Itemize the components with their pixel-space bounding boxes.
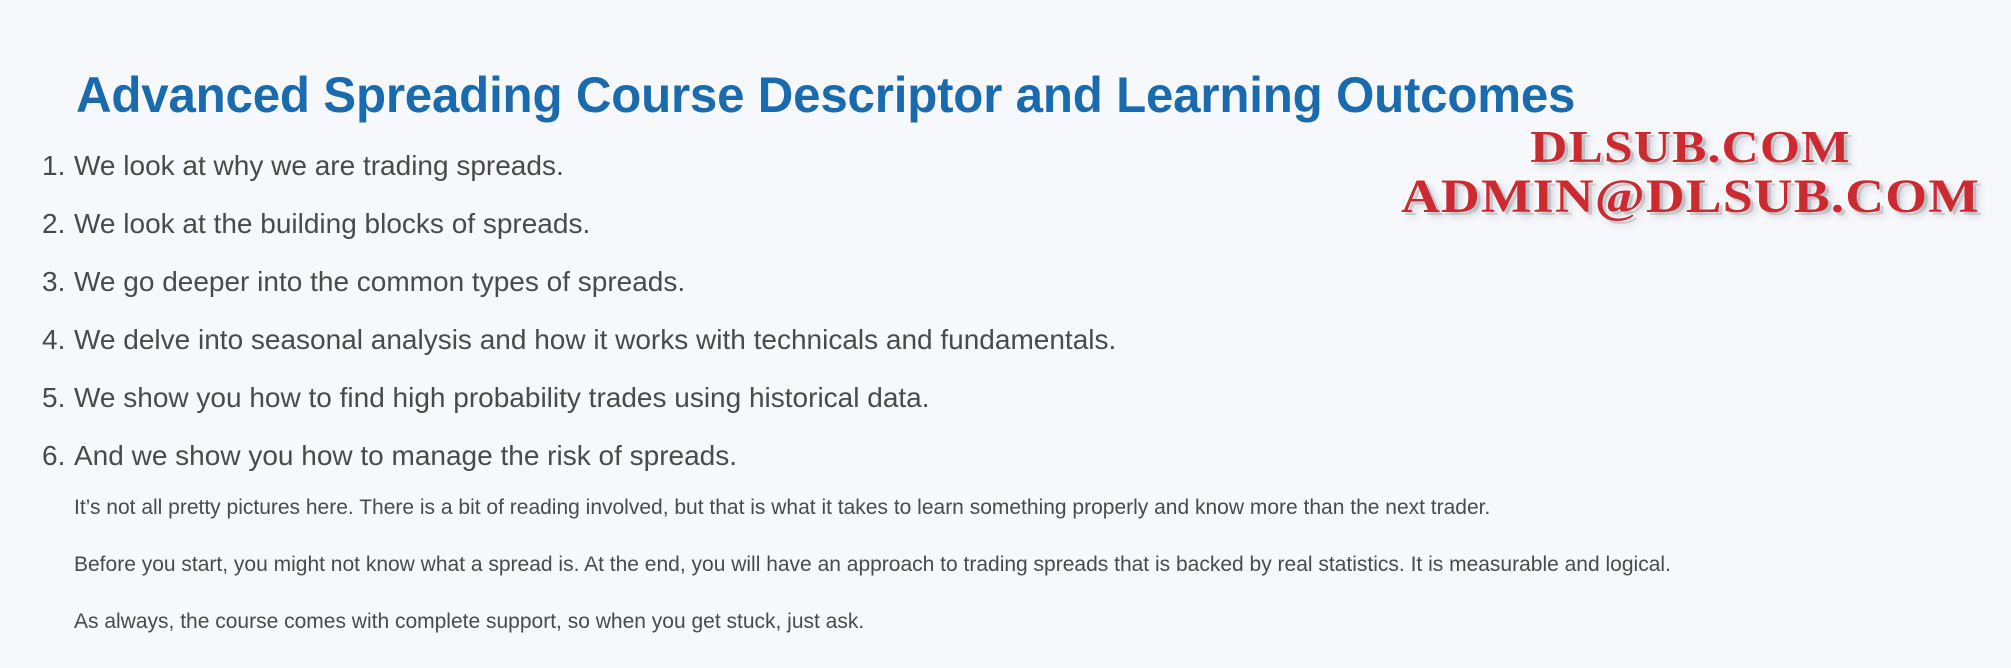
watermark-site-text: DLSUB.COM: [1401, 124, 1980, 171]
list-item-number: 4.: [42, 311, 74, 369]
list-item-label: We show you how to find high probability…: [74, 369, 930, 427]
list-item: 2. We look at the building blocks of spr…: [42, 195, 1302, 253]
list-item-label: We delve into seasonal analysis and how …: [74, 311, 1116, 369]
list-item-number: 1.: [42, 137, 74, 195]
list-item-number: 5.: [42, 369, 74, 427]
list-item-label: We go deeper into the common types of sp…: [74, 253, 685, 311]
list-item: 5. We show you how to find high probabil…: [42, 369, 1302, 427]
list-item: 6. And we show you how to manage the ris…: [42, 427, 1302, 485]
learning-outcomes-list: 1. We look at why we are trading spreads…: [42, 137, 1302, 485]
notes-section: It’s not all pretty pictures here. There…: [74, 491, 1994, 639]
list-item-label: And we show you how to manage the risk o…: [74, 427, 737, 485]
list-item-number: 6.: [42, 427, 74, 485]
list-item-number: 2.: [42, 195, 74, 253]
list-item-label: We look at why we are trading spreads.: [74, 137, 564, 195]
note-paragraph: As always, the course comes with complet…: [74, 605, 1994, 639]
list-item: 4. We delve into seasonal analysis and h…: [42, 311, 1302, 369]
note-paragraph: Before you start, you might not know wha…: [74, 548, 1994, 582]
list-item-number: 3.: [42, 253, 74, 311]
list-item: 3. We go deeper into the common types of…: [42, 253, 1302, 311]
page-title: Advanced Spreading Course Descriptor and…: [76, 66, 1575, 124]
page-root: Advanced Spreading Course Descriptor and…: [0, 0, 2011, 668]
list-item: 1. We look at why we are trading spreads…: [42, 137, 1302, 195]
list-item-label: We look at the building blocks of spread…: [74, 195, 590, 253]
watermark: DLSUB.COM ADMIN@DLSUB.COM: [1432, 124, 1949, 222]
note-paragraph: It’s not all pretty pictures here. There…: [74, 491, 1994, 525]
watermark-email-text: ADMIN@DLSUB.COM: [1401, 173, 1980, 222]
